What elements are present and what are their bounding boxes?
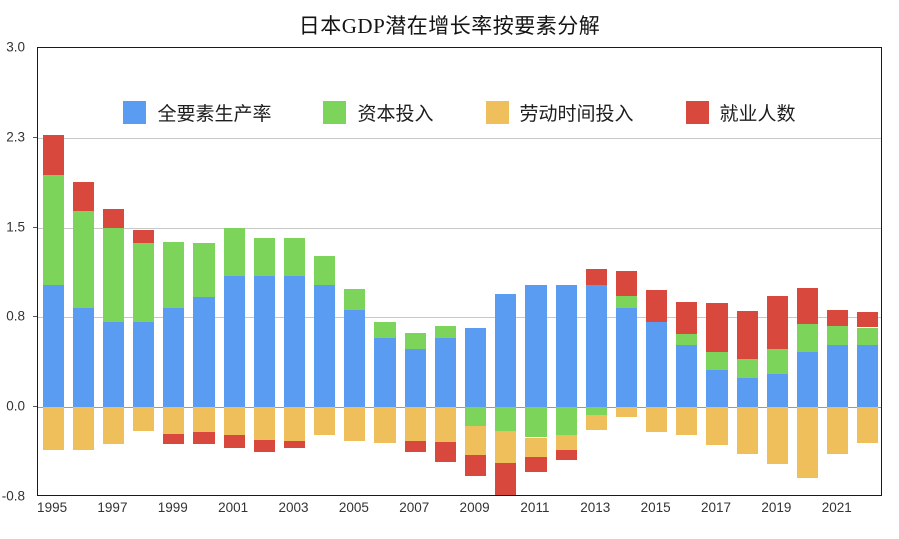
bar-segment — [556, 407, 577, 435]
y-axis-labels: 3.02.31.50.80.0-0.8 — [0, 47, 33, 496]
legend-item[interactable]: 资本投入 — [323, 99, 433, 126]
bar-segment — [314, 407, 335, 435]
bar-segment — [676, 345, 697, 407]
bar-segment — [73, 182, 94, 211]
x-axis-tick-label: 1997 — [97, 500, 127, 515]
bar-segment — [767, 349, 788, 374]
bar-segment — [616, 296, 637, 309]
bar-segment — [133, 243, 154, 322]
y-axis-tick-label: 0.0 — [6, 399, 25, 414]
color-swatch-icon — [686, 101, 709, 124]
bar-segment — [525, 285, 546, 407]
y-axis-tick-label: 2.3 — [6, 129, 25, 144]
bar-segment — [405, 407, 426, 441]
bar-segment — [556, 285, 577, 407]
bar-segment — [827, 326, 848, 345]
bar-segment — [737, 407, 758, 454]
bar-segment — [827, 310, 848, 327]
chart-legend: 全要素生产率资本投入劳动时间投入就业人数 — [37, 95, 882, 129]
bar-segment — [586, 407, 607, 415]
bar-segment — [344, 407, 365, 441]
x-axis-tick-label: 1995 — [37, 500, 67, 515]
bar-segment — [435, 407, 456, 442]
bar-segment — [43, 407, 64, 450]
bar-segment — [103, 322, 124, 407]
bar-segment — [797, 407, 818, 478]
bar-segment — [163, 407, 184, 434]
legend-label: 劳动时间投入 — [520, 99, 634, 126]
chart-container: 日本GDP潜在增长率按要素分解 3.02.31.50.80.0-0.8 1995… — [0, 0, 899, 539]
bar-segment — [465, 426, 486, 455]
bar-segment — [193, 243, 214, 297]
legend-item[interactable]: 劳动时间投入 — [486, 99, 634, 126]
x-axis-tick-label: 2021 — [822, 500, 852, 515]
color-swatch-icon — [486, 101, 509, 124]
bar-segment — [103, 228, 124, 322]
bar-segment — [827, 407, 848, 454]
bar-segment — [374, 338, 395, 408]
bar-segment — [616, 407, 637, 417]
x-axis-labels: 1995199719992001200320052007200920112013… — [37, 500, 882, 528]
bar-segment — [616, 271, 637, 295]
bar-segment — [525, 457, 546, 473]
bar-segment — [646, 407, 667, 432]
color-swatch-icon — [323, 101, 346, 124]
bar-segment — [224, 276, 245, 407]
x-axis-tick-label: 1999 — [158, 500, 188, 515]
bar-segment — [374, 322, 395, 338]
bar-segment — [706, 370, 727, 407]
bar-segment — [254, 238, 275, 276]
bar-segment — [706, 352, 727, 370]
x-axis-tick-label: 2013 — [580, 500, 610, 515]
bar-segment — [43, 285, 64, 407]
bar-segment — [374, 407, 395, 443]
bar-segment — [737, 311, 758, 359]
bar-segment — [254, 276, 275, 407]
bar-segment — [405, 333, 426, 349]
x-axis-tick-label: 2015 — [641, 500, 671, 515]
bar-segment — [857, 312, 878, 327]
bar-segment — [586, 269, 607, 286]
bar-segment — [616, 308, 637, 407]
bar-segment — [706, 303, 727, 352]
bar-segment — [435, 442, 456, 462]
x-axis-tick-label: 2017 — [701, 500, 731, 515]
bar-segment — [465, 455, 486, 475]
bar-segment — [344, 310, 365, 407]
bar-segment — [857, 328, 878, 346]
x-axis-tick-label: 2011 — [520, 500, 549, 515]
bar-segment — [73, 407, 94, 450]
legend-item[interactable]: 全要素生产率 — [123, 99, 271, 126]
bar-segment — [344, 289, 365, 310]
bar-segment — [646, 290, 667, 321]
bar-segment — [556, 435, 577, 450]
bar-segment — [43, 175, 64, 285]
bar-segment — [706, 407, 727, 445]
bar-segment — [495, 294, 516, 407]
x-axis-tick-label: 2005 — [339, 500, 369, 515]
bar-segment — [224, 407, 245, 435]
bar-segment — [737, 359, 758, 378]
bar-segment — [495, 431, 516, 464]
bar-segment — [254, 407, 275, 440]
bar-segment — [676, 334, 697, 345]
bar-segment — [586, 415, 607, 430]
bar-segment — [525, 407, 546, 437]
x-axis-tick-label: 2001 — [218, 500, 248, 515]
bar-segment — [103, 209, 124, 228]
x-axis-tick-label: 2003 — [278, 500, 308, 515]
color-swatch-icon — [123, 101, 146, 124]
bar-segment — [163, 308, 184, 407]
bar-segment — [767, 374, 788, 408]
bar-segment — [435, 326, 456, 337]
bar-segment — [314, 256, 335, 286]
bar-segment — [284, 441, 305, 448]
bar-segment — [193, 297, 214, 407]
bar-segment — [495, 463, 516, 494]
x-axis-tick-label: 2019 — [761, 500, 791, 515]
y-axis-tick-label: -0.8 — [2, 489, 25, 504]
page-title: 日本GDP潜在增长率按要素分解 — [0, 10, 899, 40]
bar-segment — [405, 349, 426, 407]
legend-label: 就业人数 — [720, 99, 796, 126]
bar-segment — [43, 135, 64, 175]
bar-segment — [133, 322, 154, 407]
bar-segment — [254, 440, 275, 452]
bar-segment — [73, 211, 94, 309]
bar-segment — [224, 435, 245, 447]
bar-segment — [676, 302, 697, 334]
bar-segment — [586, 285, 607, 407]
bar-segment — [314, 285, 335, 407]
bar-segment — [525, 438, 546, 457]
bar-segment — [133, 407, 154, 431]
bar-segment — [405, 441, 426, 452]
bar-segment — [435, 338, 456, 408]
legend-label: 全要素生产率 — [157, 99, 271, 126]
bar-segment — [284, 276, 305, 407]
bar-segment — [767, 407, 788, 464]
y-axis-tick-label: 1.5 — [6, 219, 25, 234]
bar-segment — [163, 434, 184, 444]
bar-segment — [193, 432, 214, 444]
bar-segment — [767, 296, 788, 349]
x-axis-tick-label: 2007 — [399, 500, 429, 515]
bar-segment — [133, 230, 154, 243]
bar-segment — [797, 324, 818, 352]
bar-segment — [797, 352, 818, 407]
bar-segment — [495, 407, 516, 431]
bar-segment — [857, 407, 878, 443]
bar-segment — [73, 308, 94, 407]
bar-segment — [556, 450, 577, 460]
bar-segment — [193, 407, 214, 432]
bar-segment — [857, 345, 878, 407]
bar-segment — [465, 328, 486, 408]
bar-segment — [646, 322, 667, 407]
bar-segment — [737, 378, 758, 407]
bar-segment — [827, 345, 848, 407]
y-axis-tick-label: 0.8 — [6, 309, 25, 324]
bar-segment — [284, 407, 305, 441]
legend-item[interactable]: 就业人数 — [686, 99, 796, 126]
bar-segment — [103, 407, 124, 444]
bar-segment — [465, 407, 486, 426]
x-axis-tick-label: 2009 — [460, 500, 490, 515]
y-axis-tick-label: 3.0 — [6, 40, 25, 55]
bar-segment — [163, 242, 184, 309]
bar-segment — [224, 228, 245, 277]
legend-label: 资本投入 — [357, 99, 433, 126]
bar-segment — [797, 288, 818, 324]
bar-segment — [284, 238, 305, 276]
bar-segment — [676, 407, 697, 435]
